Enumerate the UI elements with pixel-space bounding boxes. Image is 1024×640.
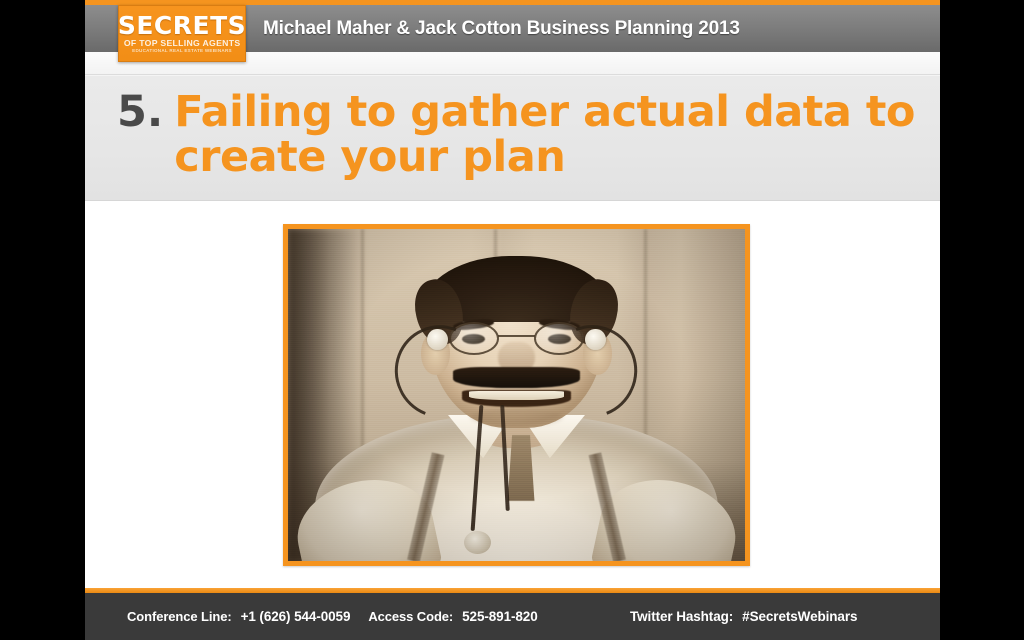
logo-tagline: OF TOP SELLING AGENTS xyxy=(124,39,241,48)
heading-wrap: 5. Failing to gather actual data to crea… xyxy=(117,90,916,180)
logo-wordmark: SECRETS xyxy=(118,13,246,38)
twitter-hashtag-label: Twitter Hashtag: xyxy=(630,609,733,624)
photo-vignette xyxy=(288,229,745,561)
slide-heading-band: 5. Failing to gather actual data to crea… xyxy=(85,75,940,201)
access-code-value: 525-891-820 xyxy=(462,609,537,624)
letterbox-right xyxy=(940,0,1024,640)
secrets-logo: SECRETS OF TOP SELLING AGENTS EDUCATIONA… xyxy=(118,5,246,62)
conference-line-number: +1 (626) 544-0059 xyxy=(241,609,351,624)
logo-subtagline: EDUCATIONAL REAL ESTATE WEBINARS xyxy=(132,49,232,54)
slide-photo-frame xyxy=(283,224,750,566)
footer-twitter-info: Twitter Hashtag:#SecretsWebinars xyxy=(630,609,857,624)
slide-photo xyxy=(288,229,745,561)
video-player-viewport: Michael Maher & Jack Cotton Business Pla… xyxy=(0,0,1024,640)
letterbox-left xyxy=(0,0,85,640)
slide-number: 5. xyxy=(117,90,163,135)
conference-line-label: Conference Line: xyxy=(127,609,232,624)
slide-heading: Failing to gather actual data to create … xyxy=(174,90,916,180)
slide-content xyxy=(85,201,940,588)
slide-footer: Conference Line:+1 (626) 544-0059Access … xyxy=(85,593,940,640)
access-code-label: Access Code: xyxy=(368,609,453,624)
presentation-title: Michael Maher & Jack Cotton Business Pla… xyxy=(263,18,740,40)
twitter-hashtag-value: #SecretsWebinars xyxy=(742,609,857,624)
footer-conference-info: Conference Line:+1 (626) 544-0059Access … xyxy=(127,609,538,624)
presentation-slide: Michael Maher & Jack Cotton Business Pla… xyxy=(85,0,940,640)
